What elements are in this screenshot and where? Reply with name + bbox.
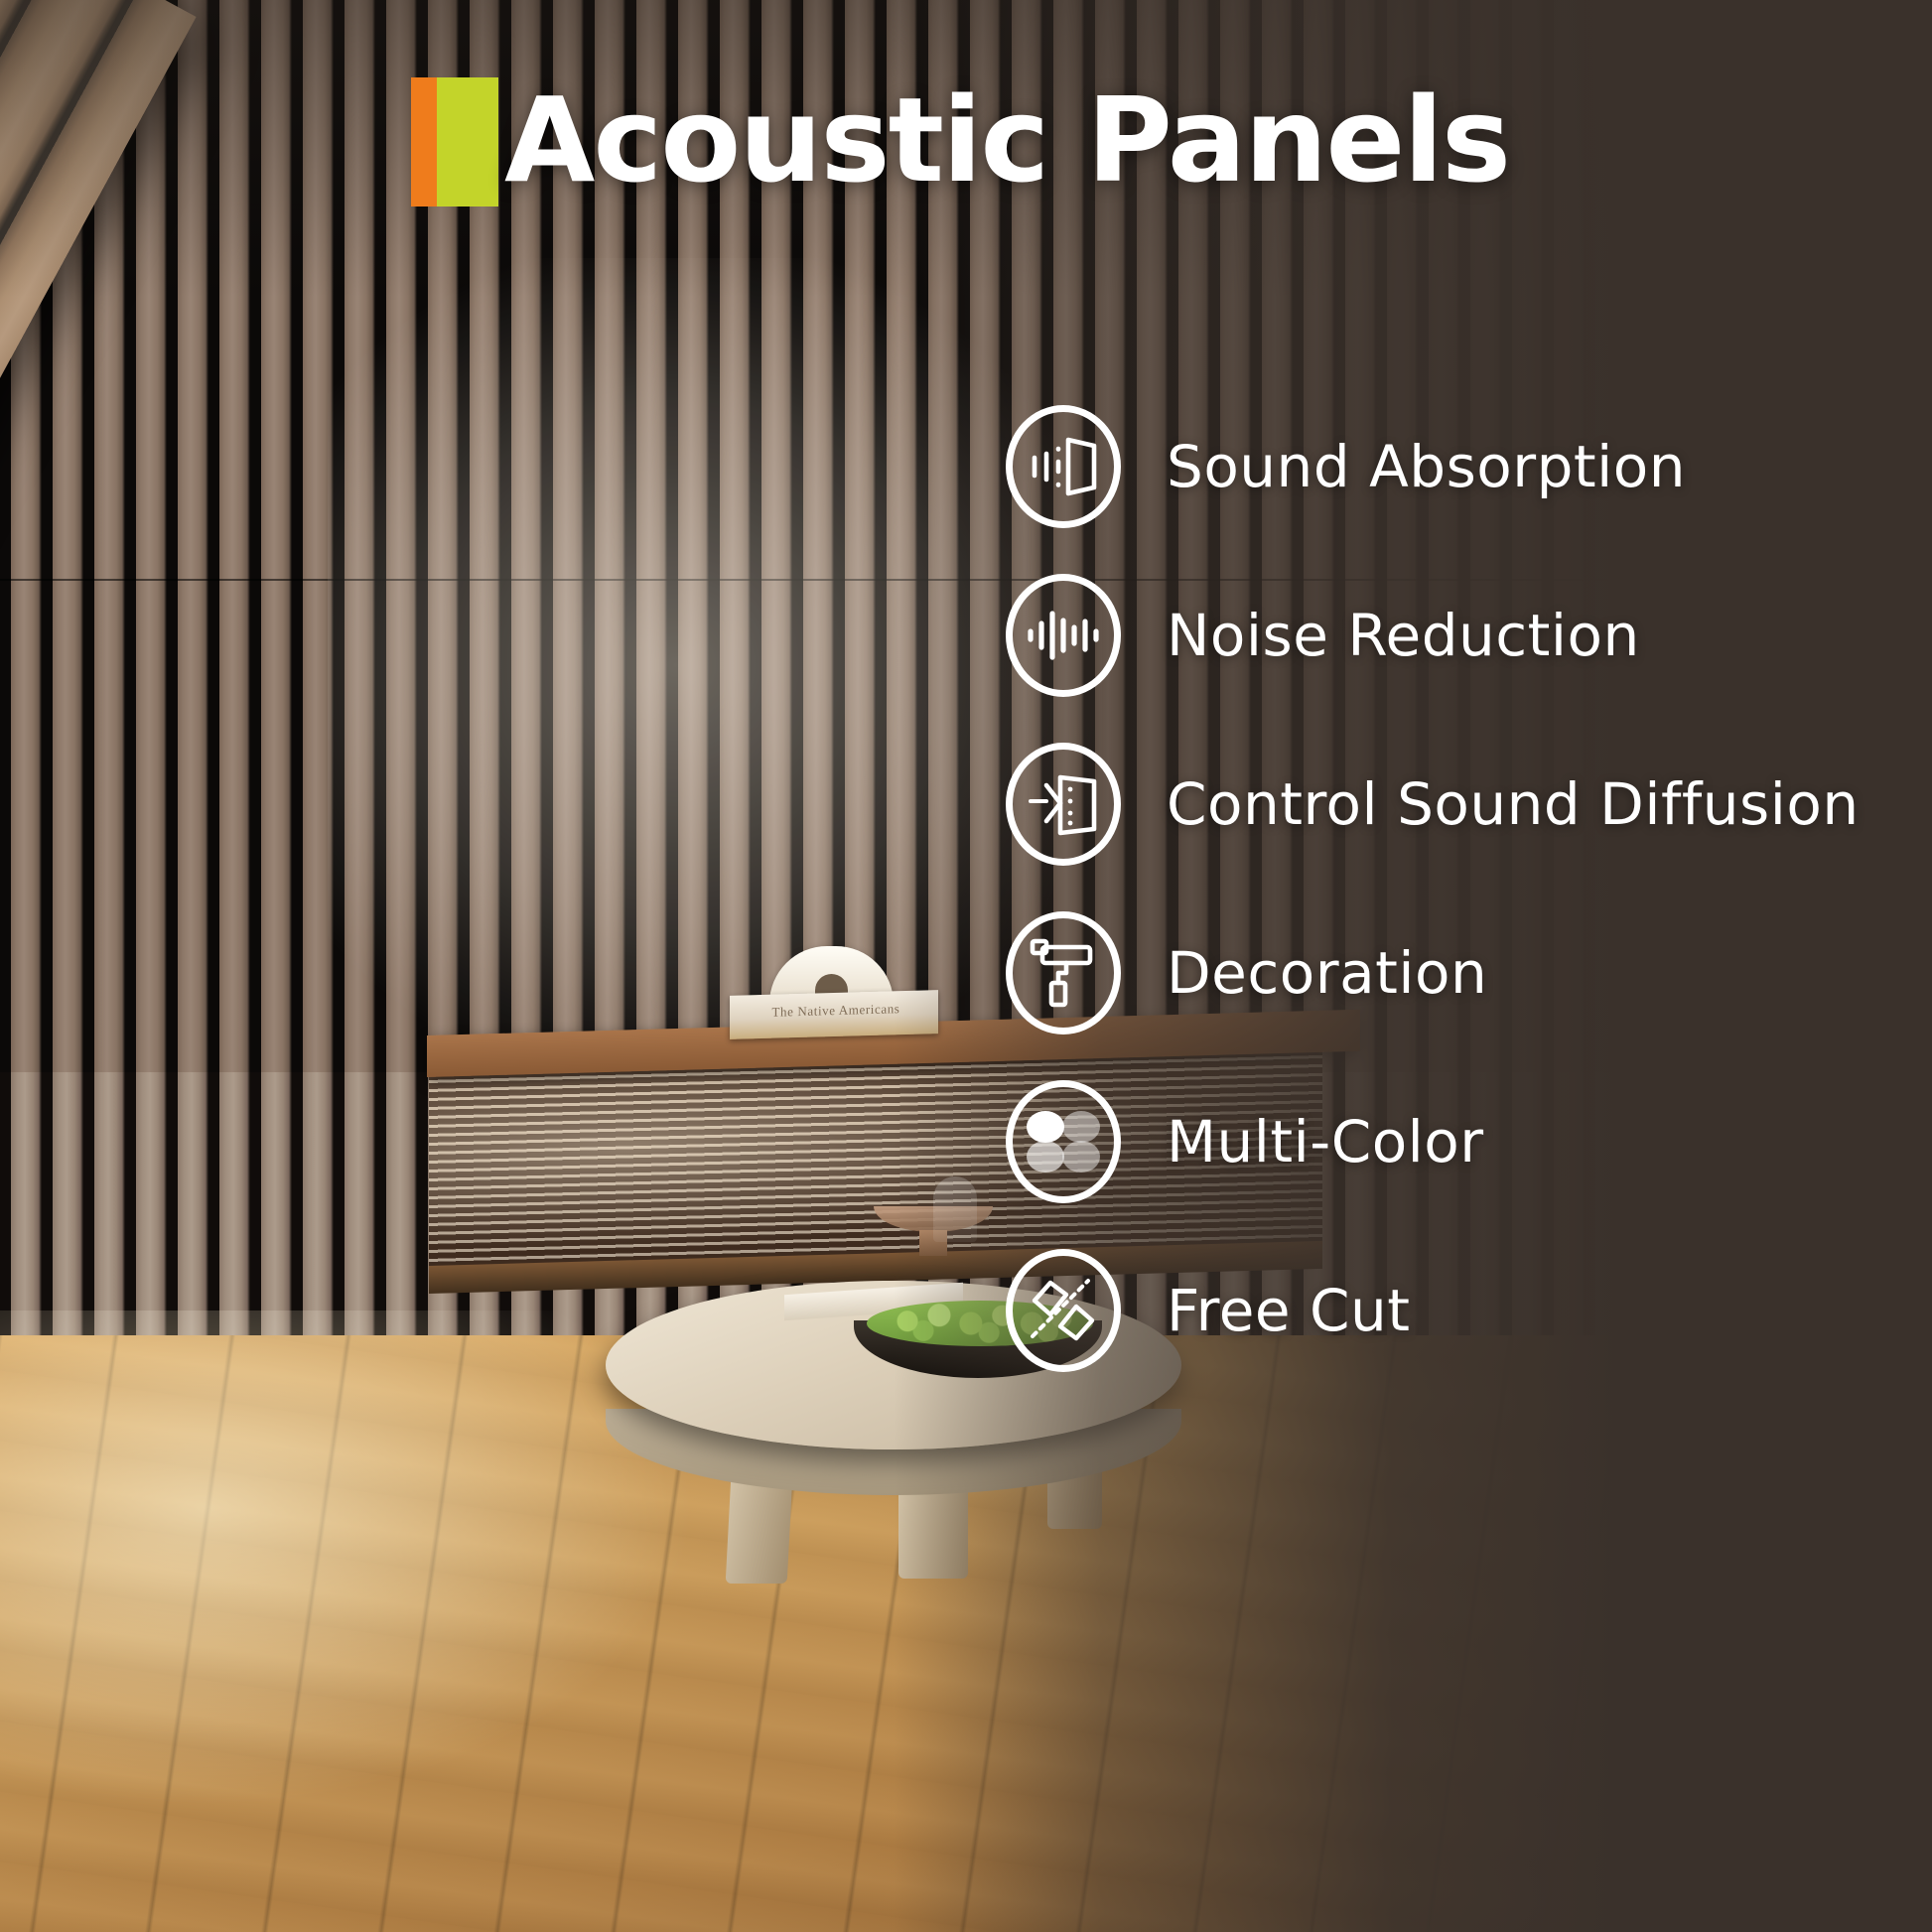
feature-list: Sound Absorption Noise Reduction: [1006, 405, 1860, 1372]
four-color-swatches-icon: [1006, 1080, 1121, 1203]
page-title-text: Acoustic Panels: [504, 77, 1509, 203]
feature-item-noise-reduction: Noise Reduction: [1006, 574, 1860, 697]
feature-label: Free Cut: [1167, 1279, 1411, 1342]
product-marketing-image: The Native Americans Acoustic Panels: [0, 0, 1932, 1932]
feature-item-control-sound-diffusion: Control Sound Diffusion: [1006, 743, 1860, 866]
logo-bar-lime-icon: [437, 77, 498, 207]
floor-light-glow: [0, 1311, 695, 1807]
brand-logo-mark: [411, 77, 498, 207]
feature-item-decoration: Decoration: [1006, 911, 1860, 1035]
cut-dashed-line-icon: [1006, 1249, 1121, 1372]
page-title: Acoustic Panels: [411, 77, 1509, 207]
feature-item-multi-color: Multi-Color: [1006, 1080, 1860, 1203]
feature-label: Noise Reduction: [1167, 604, 1640, 667]
feature-label: Control Sound Diffusion: [1167, 772, 1860, 836]
sound-diffusion-panel-icon: [1006, 743, 1121, 866]
audio-waveform-icon: [1006, 574, 1121, 697]
feature-item-free-cut: Free Cut: [1006, 1249, 1860, 1372]
feature-label: Decoration: [1167, 941, 1487, 1005]
sound-absorption-panel-icon: [1006, 405, 1121, 528]
feature-item-sound-absorption: Sound Absorption: [1006, 405, 1860, 528]
feature-label: Sound Absorption: [1167, 435, 1686, 498]
logo-bar-orange-icon: [411, 77, 437, 207]
glass-object: [933, 1176, 977, 1242]
paint-roller-icon: [1006, 911, 1121, 1035]
feature-label: Multi-Color: [1167, 1110, 1484, 1173]
